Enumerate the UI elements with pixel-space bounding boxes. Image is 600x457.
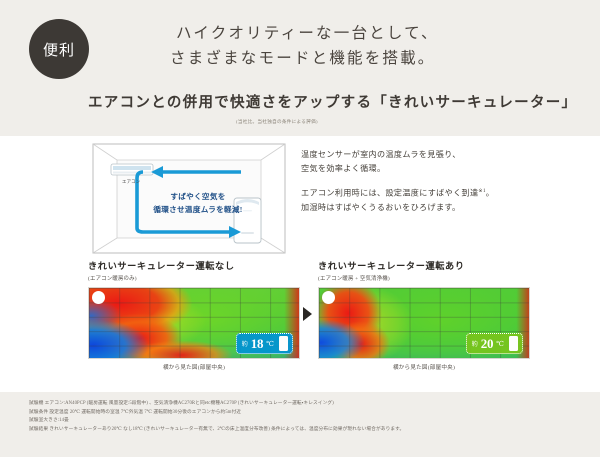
right-thermal-image: 約 20 ℃ <box>318 287 530 359</box>
left-temp-unit: ℃ <box>266 340 274 348</box>
air-conditioner-label: エアコン <box>122 179 140 185</box>
left-temperature-badge: 約 18 ℃ <box>236 333 293 354</box>
left-thermal-image: 約 18 ℃ <box>88 287 300 359</box>
description-p1-line-2: 空気を効率よく循環。 <box>301 164 385 173</box>
right-temperature-badge: 約 20 ℃ <box>466 333 523 354</box>
product-feature-page: 便利 ハイクオリティーな一台として、 さまざまなモードと機能を搭載。 エアコンと… <box>0 0 600 457</box>
description-p2-punct: 。 <box>486 189 494 198</box>
description-p1-line-1: 温度センサーが室内の温度ムラを見張り、 <box>301 150 461 159</box>
thermal-comparison: きれいサーキュレーター運転なし (エアコン暖房のみ) 約 <box>0 260 600 392</box>
page-headline: ハイクオリティーな一台として、 さまざまなモードと機能を搭載。 <box>176 21 439 71</box>
page-header: 便利 ハイクオリティーな一台として、 さまざまなモードと機能を搭載。 エアコンと… <box>0 0 600 136</box>
thermal-panel-without-circulator: きれいサーキュレーター運転なし (エアコン暖房のみ) 約 <box>88 260 300 371</box>
left-panel-subtitle: (エアコン暖房のみ) <box>88 274 300 282</box>
content-card: エアコン すばやく空気を 循環させ温度ムラを軽減! 温度センサーが室内の温度ムラ… <box>0 136 600 392</box>
description-paragraph-2: エアコン利用時には、設定温度にすばやく到達※1。 加湿時はすばやくうるおいをひろ… <box>301 185 591 215</box>
right-panel-title: きれいサーキュレーター運転あり <box>318 260 530 272</box>
right-panel-subtitle: (エアコン暖房 + 空気清浄機) <box>318 274 530 282</box>
right-temp-value: 20 <box>481 336 493 352</box>
left-panel-title: きれいサーキュレーター運転なし <box>88 260 300 272</box>
footnote-line-3: 試験室大きさ:14畳 <box>29 417 588 426</box>
thermal-panel-with-circulator: きれいサーキュレーター運転あり (エアコン暖房 + 空気清浄機) 約 20 <box>318 260 530 371</box>
headline-line-1: ハイクオリティーな一台として、 <box>176 21 439 46</box>
left-temp-prefix: 約 <box>242 339 248 348</box>
right-device-icon <box>509 336 518 351</box>
air-conditioner-unit <box>111 164 153 175</box>
illustration-caption-line-1: すばやく空気を <box>137 190 259 203</box>
convenience-badge-label: 便利 <box>43 39 75 60</box>
headline-line-2: さまざまなモードと機能を搭載。 <box>170 46 439 71</box>
footnote-reference-1: ※1 <box>478 189 485 194</box>
footnote-line-2: 試験条件 設定温度 20℃ 運転開始時の室温 7℃外気温 7℃ 運転開始30分後… <box>29 409 588 418</box>
footnote-line-1: 試験機 エアコン:AN40PCP (暖房運転 風量設定:5段階中) 、空気清浄機… <box>29 400 588 409</box>
page-subheadline: エアコンとの併用で快適さをアップする「きれいサーキュレーター」 <box>88 91 577 112</box>
convenience-badge: 便利 <box>29 19 89 79</box>
evaluation-note: (当社比。当社独自の条件による評価) <box>236 119 318 125</box>
description-p2-line-2: 加湿時はすばやくうるおいをひろげます。 <box>301 203 460 212</box>
illustration-caption: すばやく空気を 循環させ温度ムラを軽減! <box>137 190 259 216</box>
right-panel-caption: 横から見た図(部屋中央) <box>318 363 530 371</box>
play-triangle-icon <box>303 307 312 321</box>
feature-description: 温度センサーが室内の温度ムラを見張り、 空気を効率よく循環。 エアコン利用時には… <box>301 148 591 216</box>
left-thermal-corner-marker <box>92 291 105 304</box>
right-thermal-corner-marker <box>322 291 335 304</box>
left-device-icon <box>279 336 288 351</box>
left-panel-caption: 横から見た図(部屋中央) <box>88 363 300 371</box>
right-temp-unit: ℃ <box>496 340 504 348</box>
footnotes-section: 試験機 エアコン:AN40PCP (暖房運転 風量設定:5段階中) 、空気清浄機… <box>0 392 600 457</box>
illustration-caption-line-2: 循環させ温度ムラを軽減! <box>137 203 259 216</box>
right-temp-prefix: 約 <box>472 339 478 348</box>
left-temp-value: 18 <box>251 336 263 352</box>
footnote-line-4: 試験結果 きれいサーキュレーターあり20℃ なし18℃ (きれいサーキュレーター… <box>29 426 588 435</box>
room-illustration: エアコン すばやく空気を 循環させ温度ムラを軽減! <box>91 142 287 255</box>
description-paragraph-1: 温度センサーが室内の温度ムラを見張り、 空気を効率よく循環。 <box>301 148 591 176</box>
description-p2-line-1: エアコン利用時には、設定温度にすばやく到達 <box>301 189 478 198</box>
